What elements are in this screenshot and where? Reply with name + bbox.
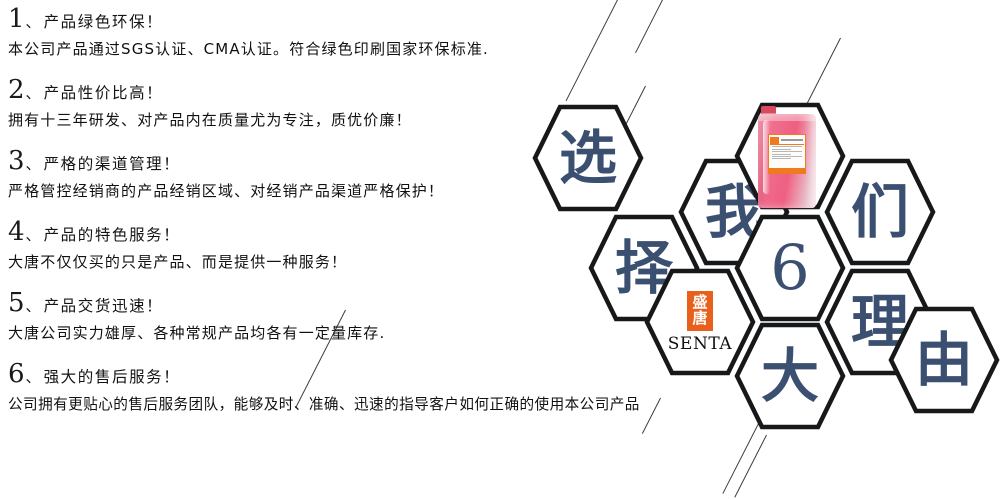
promo-banner: 1 、 产品绿色环保！ 本公司产品通过SGS认证、CMA认证。符合绿色印刷国家环… xyxy=(0,0,1000,500)
reason-heading: 1 、 产品绿色环保！ xyxy=(8,6,668,32)
reason-number: 1 xyxy=(8,6,25,32)
reason-item-4: 4 、 产品的特色服务！ 大唐不仅仅买的只是产品、而是提供一种服务！ xyxy=(8,219,668,272)
reason-title: 产品绿色环保！ xyxy=(44,15,164,31)
diagonal-line xyxy=(804,38,841,110)
reason-item-6: 6 、 强大的售后服务！ 公司拥有更贴心的售后服务团队，能够及时、准确、迅速的指… xyxy=(8,361,668,414)
reason-heading: 5 、 产品交货迅速！ xyxy=(8,290,668,316)
reason-title: 产品性价比高！ xyxy=(44,86,164,102)
label-text-line xyxy=(772,149,791,150)
reason-title: 严格的渠道管理！ xyxy=(44,157,181,173)
reason-description: 本公司产品通过SGS认证、CMA认证。符合绿色印刷国家环保标准. xyxy=(8,38,668,59)
reason-description: 大唐公司实力雄厚、各种常规产品均各有一定量库存. xyxy=(8,322,668,343)
logo-wordmark: SENTA xyxy=(668,334,733,354)
reason-item-5: 5 、 产品交货迅速！ 大唐公司实力雄厚、各种常规产品均各有一定量库存. xyxy=(8,290,668,343)
logo-mark-icon: 盛 唐 xyxy=(687,291,713,331)
label-text-line xyxy=(772,151,802,152)
reason-number: 3 xyxy=(8,148,25,174)
reason-separator: 、 xyxy=(26,370,41,385)
hex-label: 们 xyxy=(824,158,936,266)
diagonal-line xyxy=(734,435,767,498)
hex-label: 选 xyxy=(532,104,644,212)
reason-separator: 、 xyxy=(26,228,41,243)
logo-char-tang: 唐 xyxy=(692,311,707,326)
reason-title: 产品的特色服务！ xyxy=(44,228,181,244)
reason-number: 2 xyxy=(8,77,25,103)
label-header xyxy=(769,135,805,144)
label-text-line xyxy=(772,146,802,147)
hex-label: 由 xyxy=(888,306,1000,414)
label-text-line xyxy=(772,154,791,155)
reason-heading: 2 、 产品性价比高！ xyxy=(8,77,668,103)
reason-separator: 、 xyxy=(26,157,41,172)
reason-number: 5 xyxy=(8,290,25,316)
product-label xyxy=(768,134,806,174)
label-text-line xyxy=(772,158,791,159)
reason-heading: 6 、 强大的售后服务！ xyxy=(8,361,668,387)
reason-number: 4 xyxy=(8,219,25,245)
reason-item-1: 1 、 产品绿色环保！ 本公司产品通过SGS认证、CMA认证。符合绿色印刷国家环… xyxy=(8,6,668,59)
label-brand-block-icon xyxy=(770,137,779,144)
reason-separator: 、 xyxy=(26,299,41,314)
hex-cell-you[interactable]: 由 xyxy=(888,306,1000,414)
reason-title: 强大的售后服务！ xyxy=(44,370,181,386)
reason-separator: 、 xyxy=(26,86,41,101)
hex-cell-men[interactable]: 们 xyxy=(824,158,936,266)
reason-number: 6 xyxy=(8,361,25,387)
reason-separator: 、 xyxy=(26,15,41,30)
reason-heading: 4 、 产品的特色服务！ xyxy=(8,219,668,245)
hex-cell-xuan[interactable]: 选 xyxy=(532,104,644,212)
label-text-line xyxy=(772,156,802,157)
label-footer-bar xyxy=(769,168,805,173)
reason-description: 大唐不仅仅买的只是产品、而是提供一种服务！ xyxy=(8,251,668,272)
label-title-line xyxy=(781,139,803,141)
reason-description: 公司拥有更贴心的售后服务团队，能够及时、准确、迅速的指导客户如何正确的使用本公司… xyxy=(8,393,668,414)
reason-title: 产品交货迅速！ xyxy=(44,299,164,315)
product-image xyxy=(755,104,819,208)
label-rule xyxy=(770,144,804,145)
